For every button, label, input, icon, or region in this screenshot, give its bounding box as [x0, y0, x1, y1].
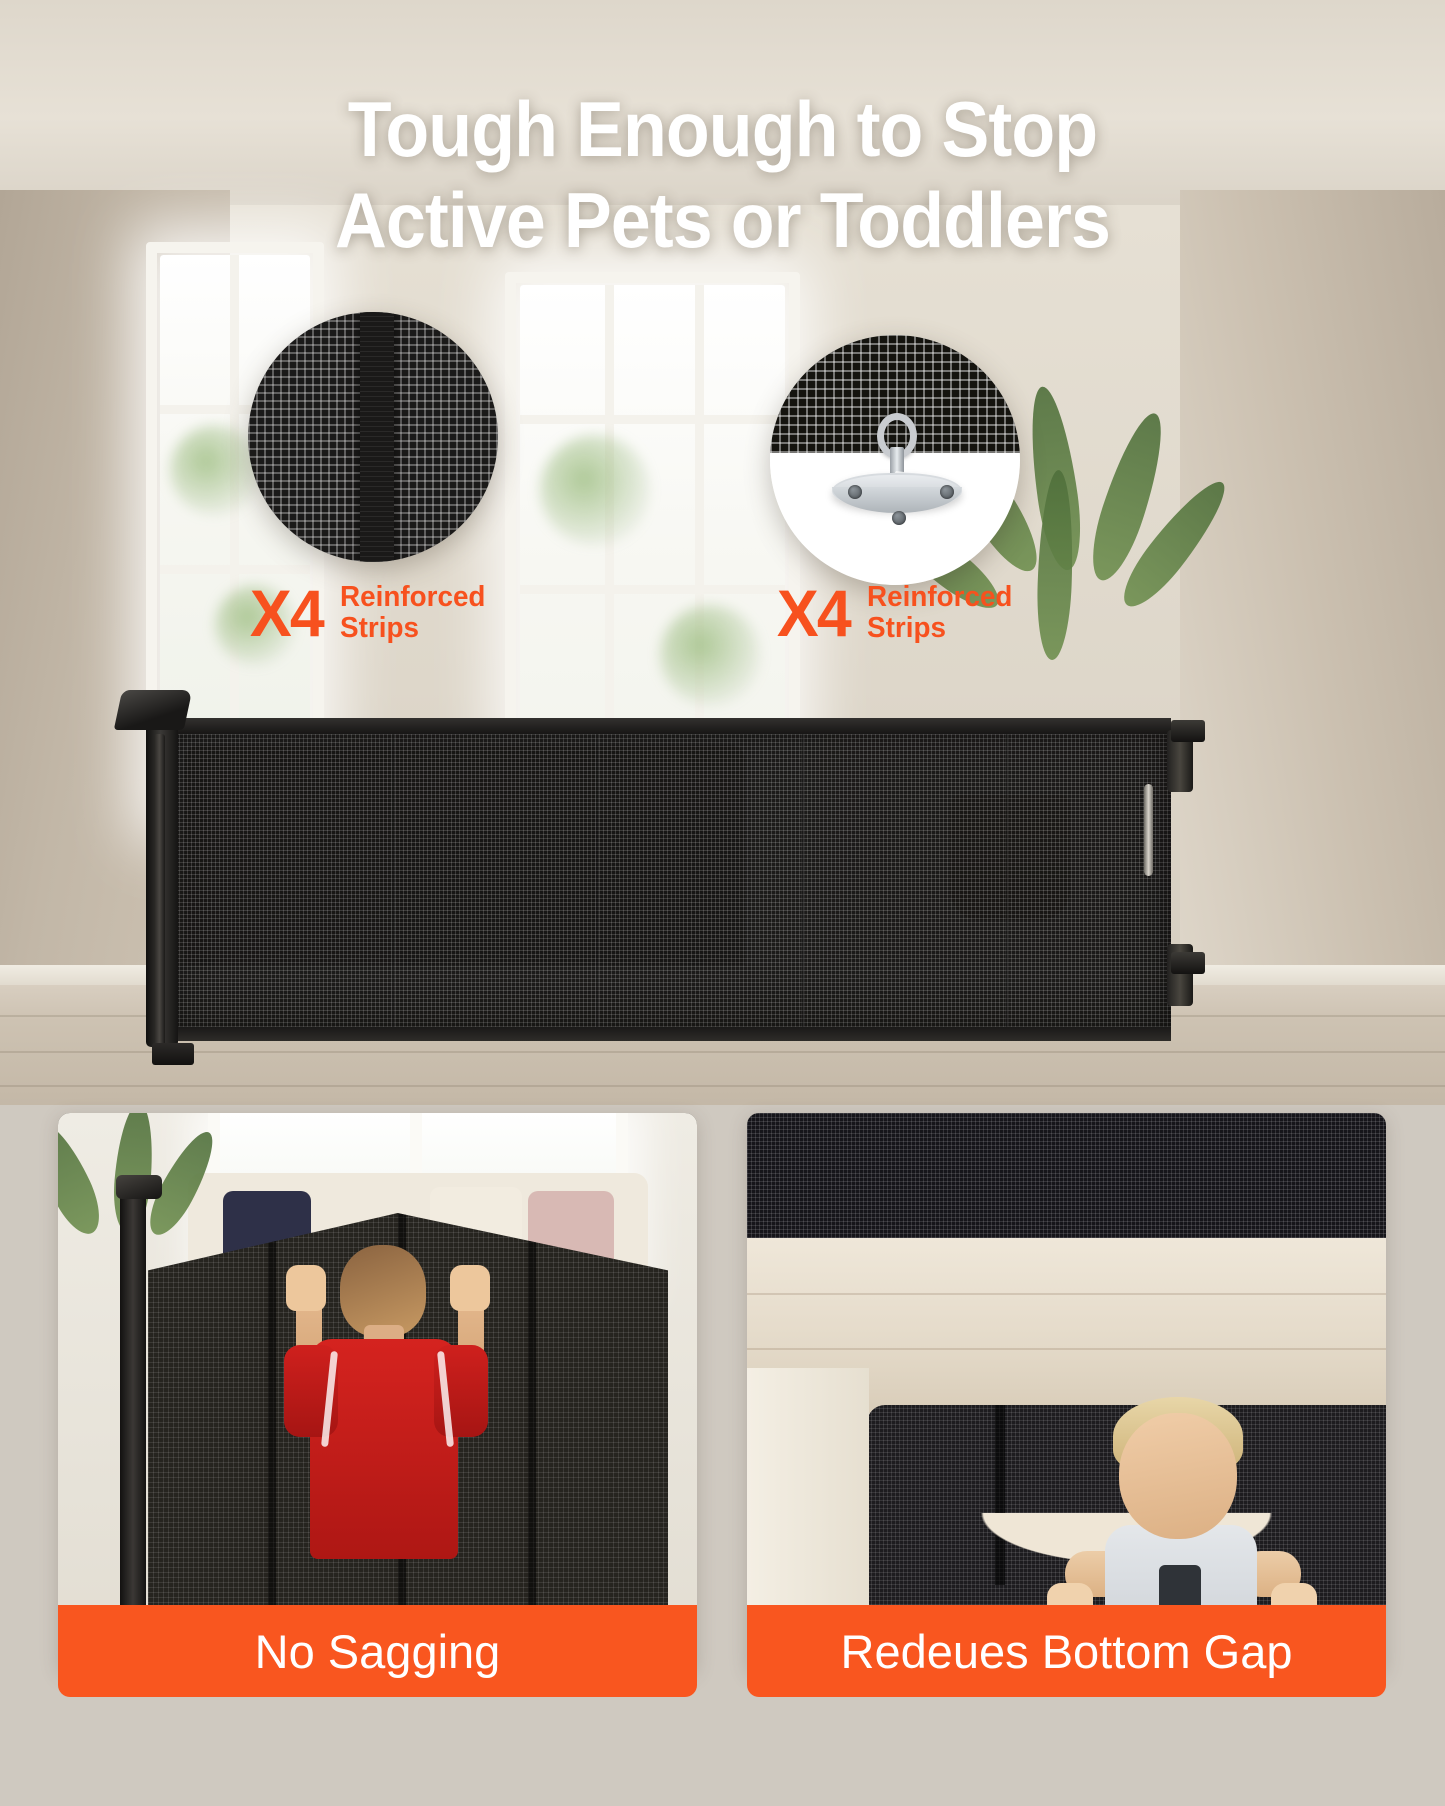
callout-text-line-2: Strips: [867, 612, 946, 644]
caption-bar-reduces-bottom-gap: Redeues Bottom Gap: [747, 1605, 1386, 1697]
headline-line-1: Tough Enough to Stop: [58, 84, 1387, 175]
caption-text-reduces-bottom-gap: Redeues Bottom Gap: [747, 1605, 1386, 1697]
callout-text-line-2: Strips: [340, 612, 419, 644]
screw-icon: [848, 485, 862, 499]
callout-reinforced-strips-hardware: [770, 335, 1020, 585]
callout-text-line-1: Reinforced: [867, 581, 1012, 613]
page-title: Tough Enough to Stop Active Pets or Todd…: [58, 84, 1387, 267]
safety-gate: [118, 712, 1193, 1047]
callout-text-line-1: Reinforced: [340, 581, 485, 613]
feature-panels: No Sagging Redeues Bottom Gap: [0, 1113, 1445, 1806]
callout-reinforced-strips-mesh: [248, 312, 498, 562]
gate-latch-bar-bottom[interactable]: [1171, 952, 1205, 974]
panel-reduces-bottom-gap: [747, 1113, 1386, 1673]
reinforced-strip-detail: [360, 312, 394, 562]
screw-icon: [940, 485, 954, 499]
panel-left-gate-cap: [116, 1175, 162, 1199]
callout-label-hardware: X4 Reinforced Strips: [775, 580, 1015, 646]
panel-right-upper-mesh: [747, 1113, 1386, 1238]
callout-label-mesh: X4 Reinforced Strips: [248, 580, 488, 646]
gate-top-rail: [163, 718, 1171, 734]
hero-section: Tough Enough to Stop Active Pets or Todd…: [0, 0, 1445, 1105]
callout-circle-hardware: [770, 335, 1020, 585]
gate-post-cap: [114, 690, 193, 730]
gate-mesh-panel: [163, 722, 1171, 1035]
caption-text-no-sagging: No Sagging: [58, 1605, 697, 1697]
callout-multiplier: X4: [777, 580, 850, 646]
caption-bar-no-sagging: No Sagging: [58, 1605, 697, 1697]
callout-multiplier: X4: [250, 580, 323, 646]
gate-handle[interactable]: [1144, 784, 1153, 876]
gate-post: [146, 712, 178, 1047]
right-wall: [1180, 190, 1445, 990]
panel-left-gate-post: [120, 1191, 146, 1631]
callout-text: Reinforced Strips: [867, 582, 1012, 645]
gate-bottom-rail: [163, 1027, 1171, 1041]
headline-line-2: Active Pets or Toddlers: [58, 175, 1387, 266]
gate-latch-bar-top[interactable]: [1171, 720, 1205, 742]
callout-circle-mesh: [248, 312, 498, 562]
callout-text: Reinforced Strips: [340, 582, 485, 645]
gate-post-foot: [152, 1043, 194, 1065]
panel-no-sagging: [58, 1113, 697, 1673]
screw-icon: [892, 511, 906, 525]
